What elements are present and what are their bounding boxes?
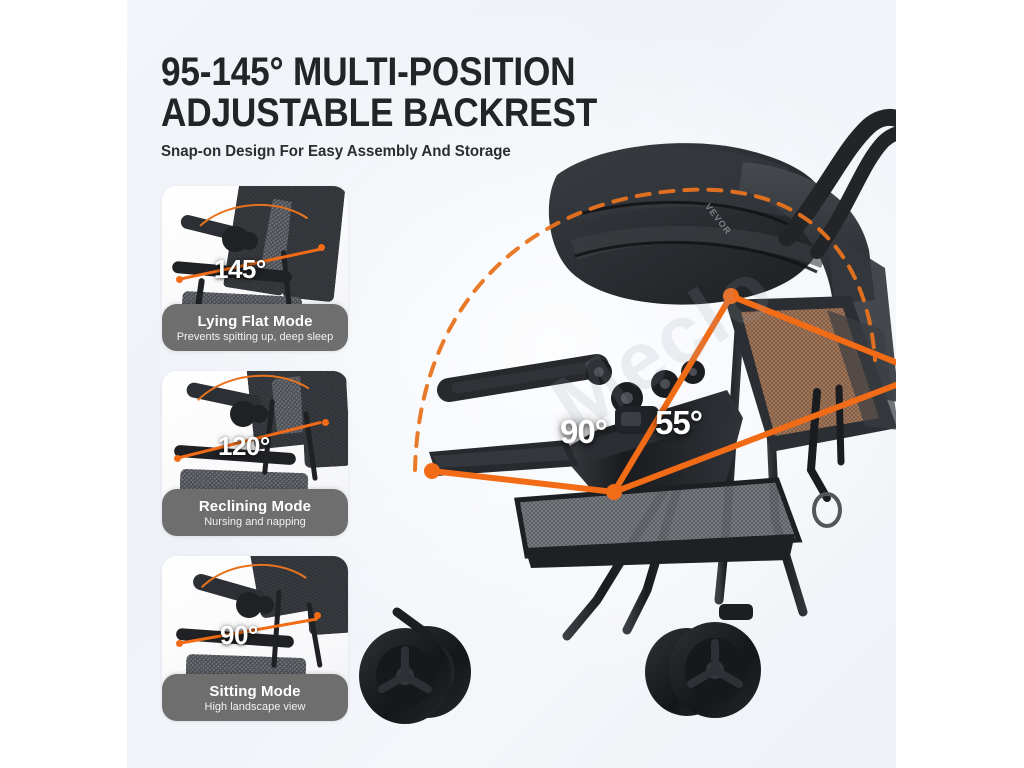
headline-line-2: ADJUSTABLE BACKREST xyxy=(161,93,777,134)
mode-card-label: Reclining Mode Nursing and napping xyxy=(162,489,348,536)
headline-block: 95-145° MULTI-POSITION ADJUSTABLE BACKRE… xyxy=(161,52,861,161)
mode-card-reclining[interactable]: 120° Reclining Mode Nursing and napping xyxy=(162,371,348,536)
mode-card-title: Lying Flat Mode xyxy=(197,313,312,330)
handlebar-grip xyxy=(449,359,612,390)
rear-wheels xyxy=(645,604,761,718)
mode-card-subtitle: Nursing and napping xyxy=(204,516,306,529)
front-wheels xyxy=(359,612,471,724)
headline-subtitle: Snap-on Design For Easy Assembly And Sto… xyxy=(161,143,840,161)
mode-card-angle: 145° xyxy=(214,254,266,285)
storage-basket xyxy=(517,480,799,568)
mode-card-subtitle: High landscape view xyxy=(205,701,306,714)
mode-card-label: Sitting Mode High landscape view xyxy=(162,674,348,721)
mode-card-subtitle: Prevents spitting up, deep sleep xyxy=(177,331,334,344)
mode-card-lying-flat[interactable]: 145° Lying Flat Mode Prevents spitting u… xyxy=(162,186,348,351)
mode-card-sitting[interactable]: 90° Sitting Mode High landscape view xyxy=(162,556,348,721)
hero-angle-backrest-label: 55° xyxy=(655,404,702,442)
mode-card-angle: 120° xyxy=(218,431,270,462)
infographic-canvas: Meclo VEVOR 90° 55° 95-145° MULTI-POSITI… xyxy=(0,0,1024,768)
mode-card-angle: 90° xyxy=(220,620,258,651)
hero-angle-seat-label: 90° xyxy=(560,413,607,451)
mode-card-title: Reclining Mode xyxy=(199,498,311,515)
headline-line-1: 95-145° MULTI-POSITION xyxy=(161,52,777,93)
mode-card-label: Lying Flat Mode Prevents spitting up, de… xyxy=(162,304,348,351)
mode-card-title: Sitting Mode xyxy=(209,683,300,700)
